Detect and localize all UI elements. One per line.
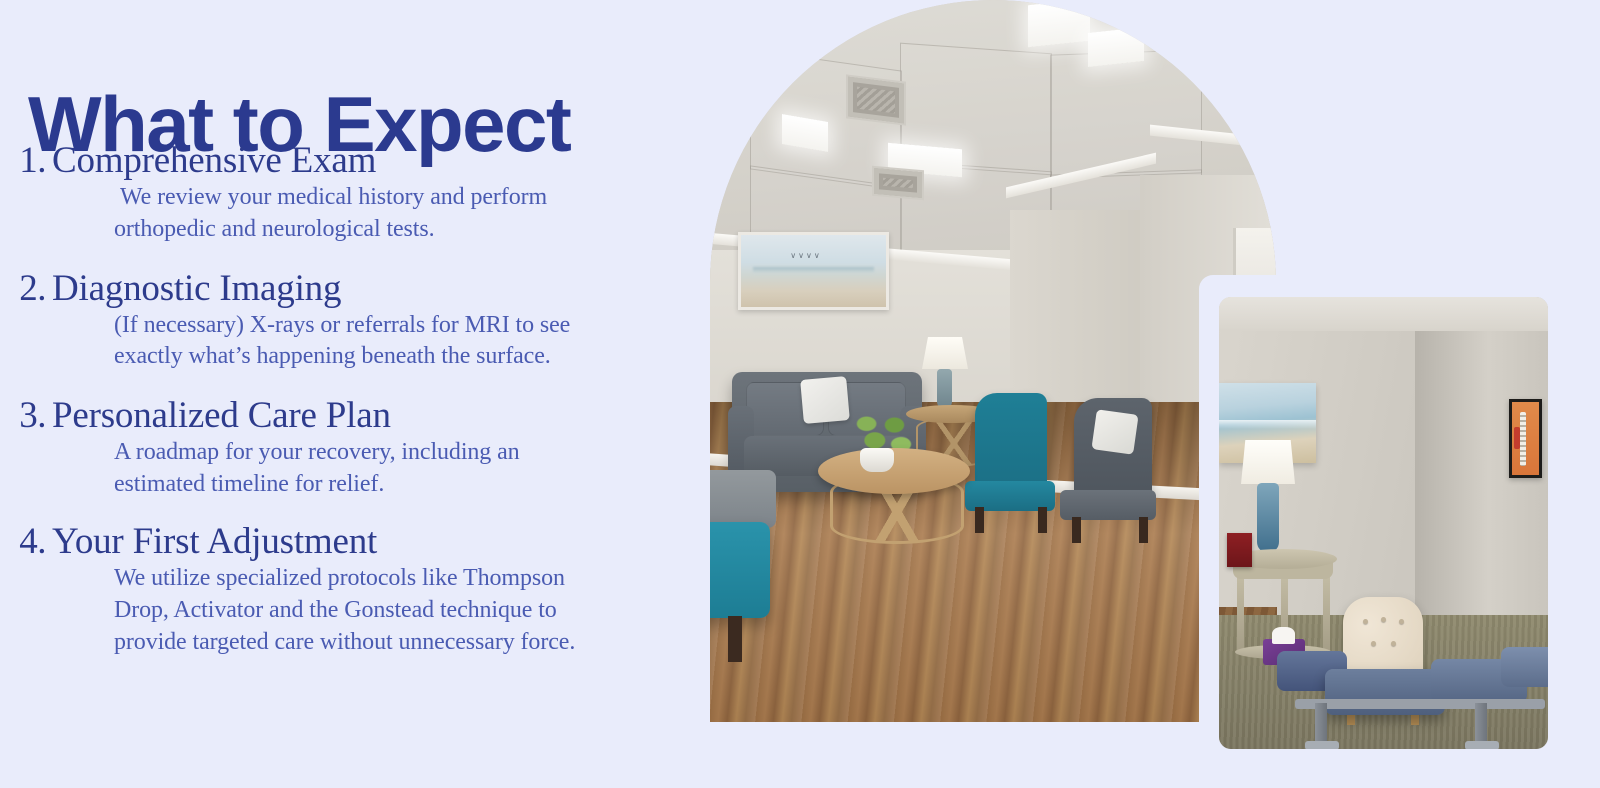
- chiropractic-treatment-room-photo: [1219, 297, 1548, 749]
- step-number: 3.: [0, 397, 52, 436]
- steps-list: 1. Comprehensive Exam We review your med…: [0, 142, 660, 659]
- list-item: 4. Your First Adjustment We utilize spec…: [0, 523, 660, 659]
- table-vase: [860, 448, 894, 472]
- step-title: Personalized Care Plan: [52, 397, 391, 436]
- lamp-base: [937, 369, 952, 409]
- ceiling-vent: [846, 74, 906, 125]
- step-number: 4.: [0, 523, 52, 562]
- list-item: 3. Personalized Care Plan A roadmap for …: [0, 397, 660, 501]
- red-book: [1227, 533, 1252, 567]
- content-column: What to Expect 1. Comprehensive Exam We …: [0, 0, 700, 788]
- step-title: Your First Adjustment: [52, 523, 377, 562]
- round-coffee-table: [818, 448, 970, 546]
- lamp-base: [1257, 483, 1279, 553]
- table-post: [1475, 703, 1487, 745]
- table-pad: [1501, 647, 1548, 687]
- chair-leg: [975, 507, 984, 533]
- list-item: 2. Diagnostic Imaging (If necessary) X-r…: [0, 270, 660, 374]
- step-title: Comprehensive Exam: [52, 142, 376, 181]
- step-number: 1.: [0, 142, 52, 181]
- table-foot: [1305, 741, 1339, 749]
- chiropractic-adjustment-table: [1325, 617, 1548, 749]
- ceiling-light: [1088, 27, 1144, 67]
- waiting-room-scene: ∨∨∨∨: [710, 0, 1276, 722]
- lamp-shade: [922, 337, 968, 369]
- step-description: We utilize specialized protocols like Th…: [114, 563, 614, 659]
- spine-anatomy-poster: [1509, 399, 1542, 478]
- console-leg: [1237, 577, 1244, 653]
- teal-accent-chair: [965, 393, 1057, 533]
- chair-leg: [1072, 517, 1081, 543]
- chair-leg: [1038, 507, 1047, 533]
- table-foot: [1465, 741, 1499, 749]
- chair-back: [975, 393, 1047, 493]
- ceiling: [1219, 297, 1548, 331]
- teal-ottoman: [710, 522, 770, 618]
- gray-ottoman: [710, 470, 776, 528]
- step-title: Diagnostic Imaging: [52, 270, 341, 309]
- step-description: A roadmap for your recovery, including a…: [114, 437, 614, 501]
- table-top: [818, 448, 970, 494]
- ceiling-light: [1028, 0, 1090, 47]
- list-item: 1. Comprehensive Exam We review your med…: [0, 142, 660, 246]
- ceiling-vent: [872, 166, 924, 201]
- clinic-waiting-room-photo: ∨∨∨∨: [710, 0, 1276, 722]
- beach-artwork: ∨∨∨∨: [738, 232, 889, 310]
- step-heading: 1. Comprehensive Exam: [0, 142, 660, 181]
- step-heading: 3. Personalized Care Plan: [0, 397, 660, 436]
- chair-leg: [1139, 517, 1148, 543]
- lamp-shade: [1241, 440, 1295, 484]
- step-heading: 4. Your First Adjustment: [0, 523, 660, 562]
- birds-detail: ∨∨∨∨: [790, 251, 821, 260]
- table-frame: [1295, 699, 1545, 709]
- gray-accent-chair: [1060, 398, 1160, 543]
- step-heading: 2. Diagnostic Imaging: [0, 270, 660, 309]
- table-post: [1315, 703, 1327, 745]
- step-description: (If necessary) X-rays or referrals for M…: [114, 310, 614, 374]
- throw-pillow: [1091, 409, 1138, 454]
- inset-photo-frame: [1199, 275, 1549, 749]
- step-number: 2.: [0, 270, 52, 309]
- step-description: We review your medical history and perfo…: [114, 182, 614, 246]
- chair-seat: [1060, 490, 1156, 520]
